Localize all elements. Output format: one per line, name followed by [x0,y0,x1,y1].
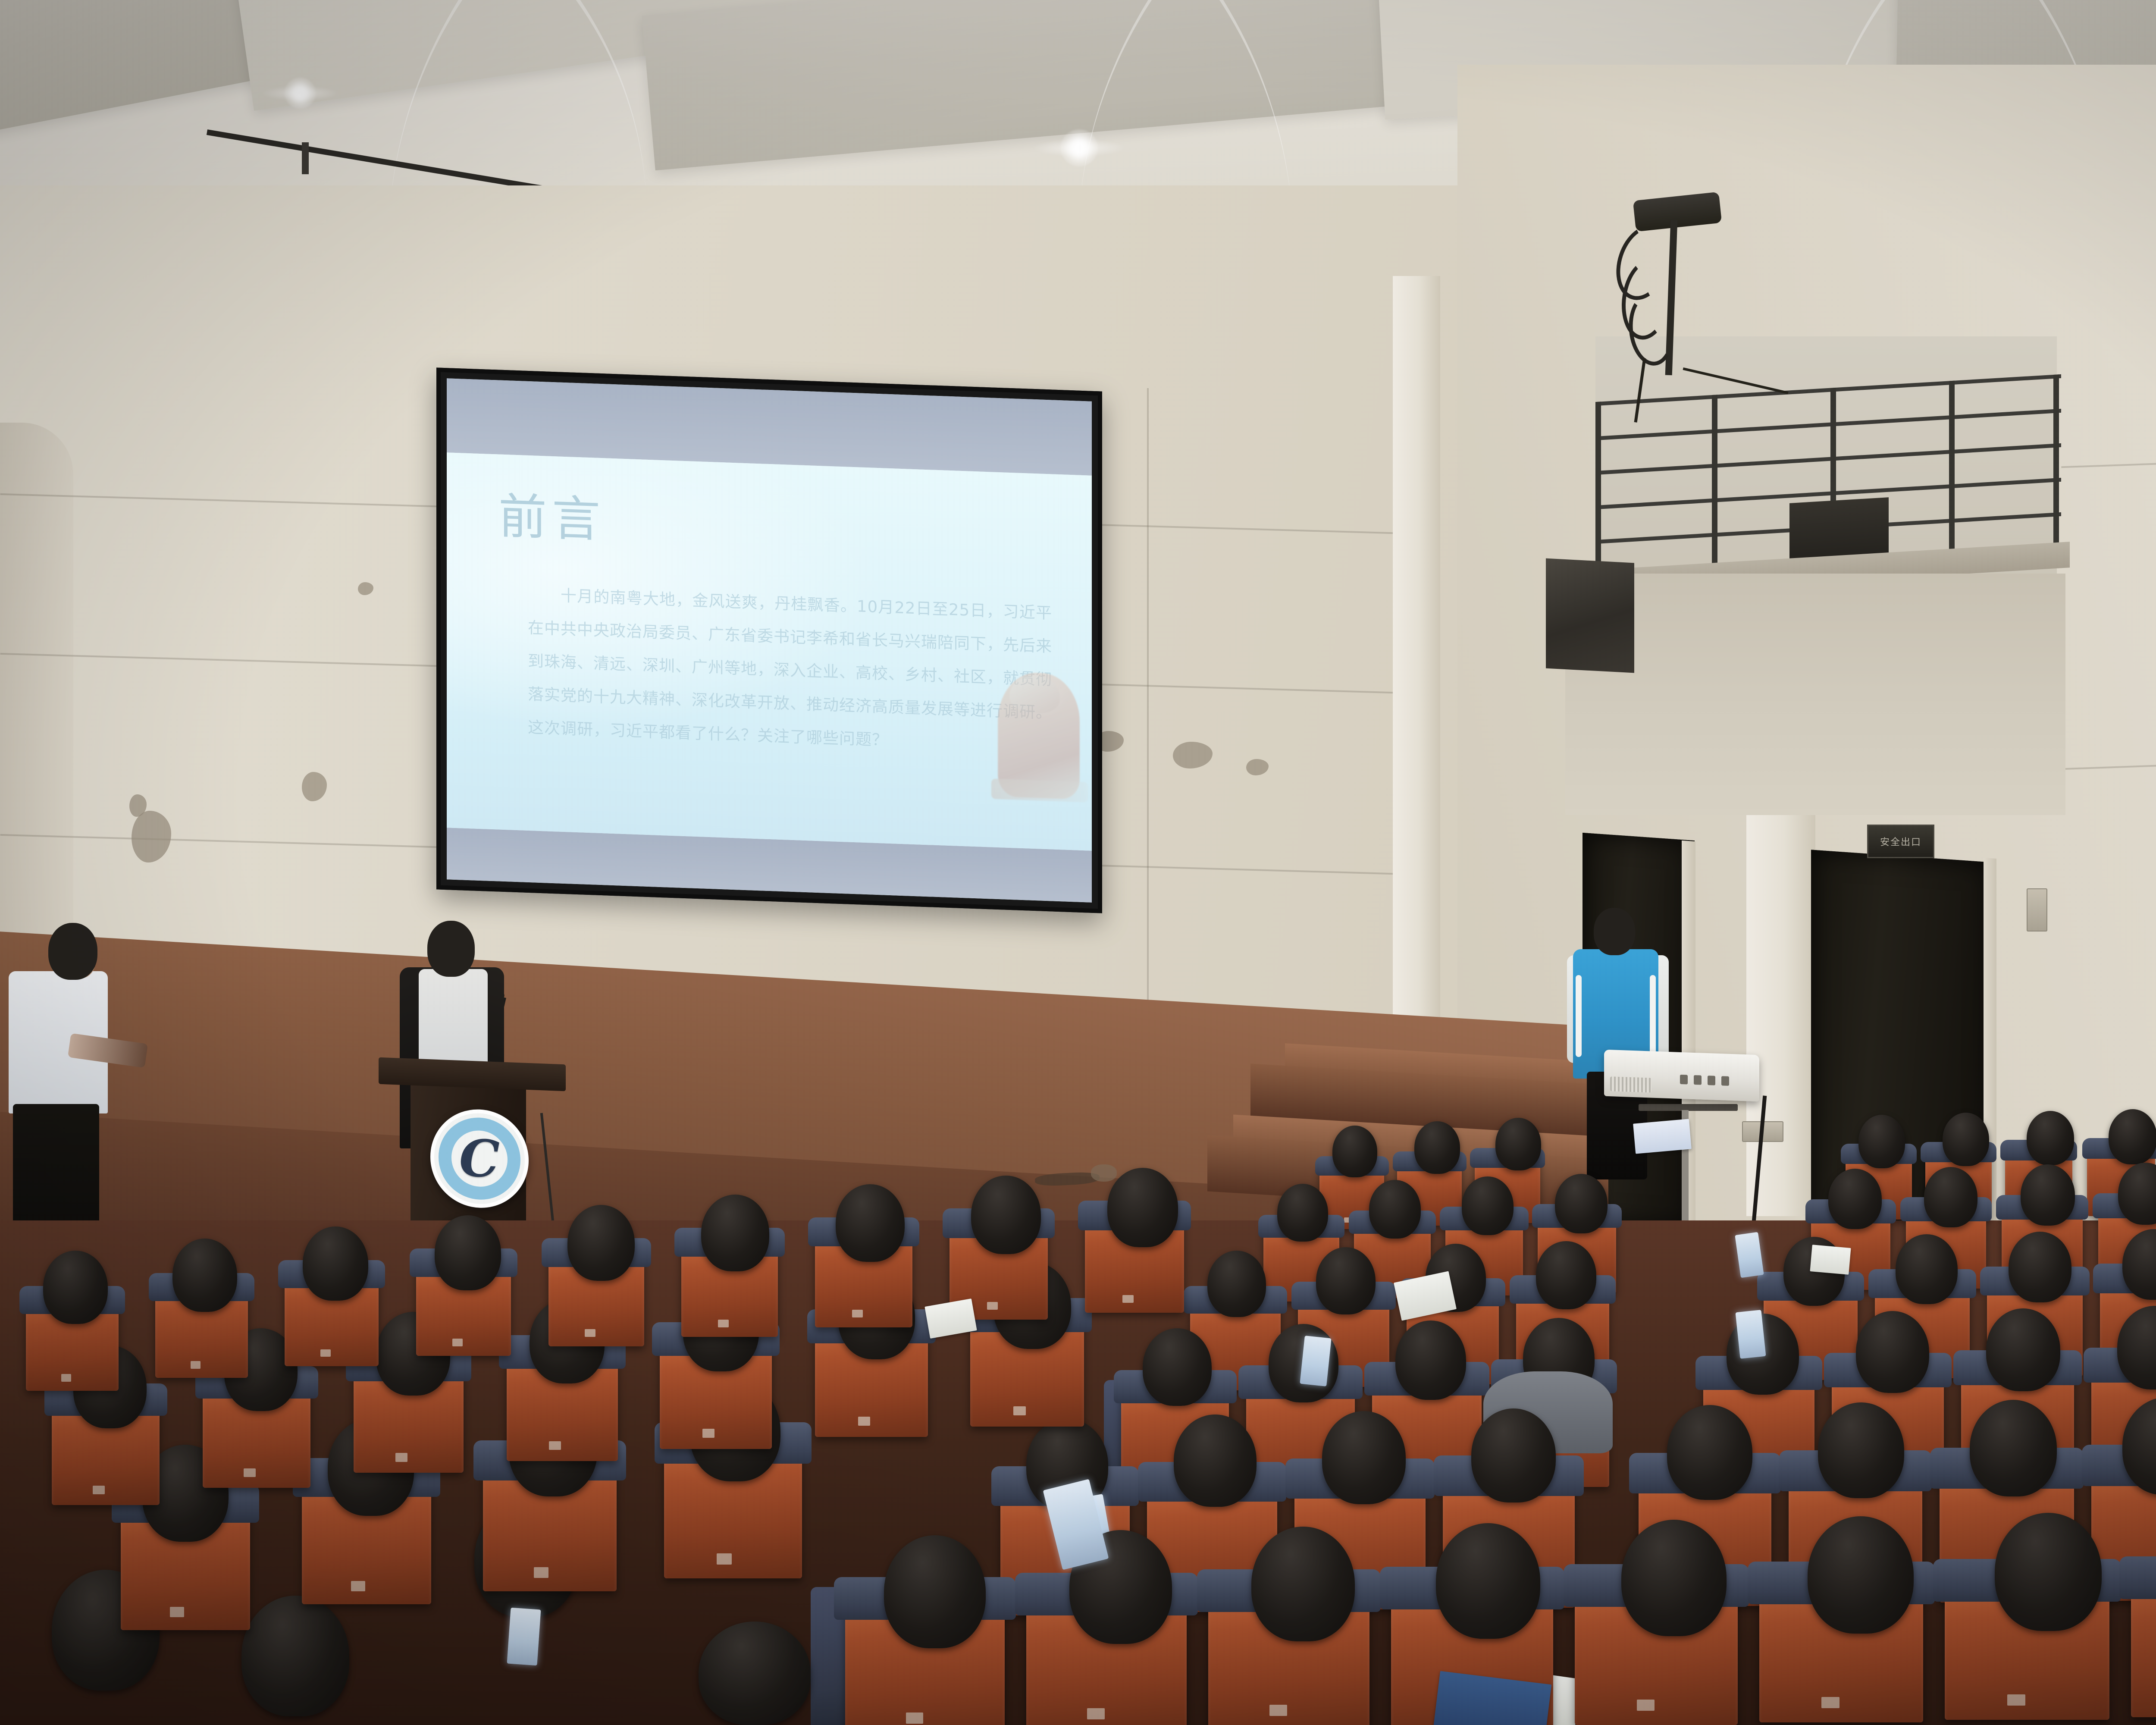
stage-floor-debris [1091,1164,1117,1182]
audience-head [1986,1308,2060,1391]
projector[interactable] [1604,1050,1759,1116]
speaker-head [427,921,475,977]
railing-post [2053,374,2059,556]
audience-head [1332,1126,1377,1177]
slide-body-text: 十月的南粤大地，金风送爽，丹桂飘香。10月22日至25日，习近平在中共中央政治局… [528,578,1052,763]
projector-port [1721,1076,1729,1086]
slide-title: 前言 [498,492,605,545]
audience-head [1436,1523,1540,1639]
smartphone[interactable] [507,1608,541,1666]
presentation-slide: 前言 十月的南粤大地，金风送爽，丹桂飘香。10月22日至25日，习近平在中共中央… [447,452,1092,851]
audience-head [1896,1234,1958,1304]
audience-head [1495,1118,1541,1170]
audience-head [701,1195,769,1271]
audience-head [884,1535,986,1648]
ceiling-downlight-1 [1061,129,1098,166]
audience-head [435,1215,501,1290]
jacket-stripe [1650,975,1656,1057]
auditorium-photo: 前言 十月的南粤大地，金风送爽，丹桂飘香。10月22日至25日，习近平在中共中央… [0,0,2156,1725]
audience-head [1536,1241,1596,1309]
audience-head [1143,1328,1212,1406]
staff-member-stage-left [0,923,134,1268]
audience-head [1174,1414,1257,1507]
audience-head [2009,1232,2071,1302]
audience-head [2027,1111,2074,1165]
audience-head [1808,1516,1914,1634]
audience-head [1251,1527,1355,1641]
audience-head [1107,1168,1178,1247]
audience-head [172,1239,237,1312]
audience-head [1667,1405,1752,1500]
paper-on-cart [1633,1119,1692,1154]
railing-post [1712,395,1717,576]
audience-head [836,1184,905,1262]
projector-port [1680,1075,1688,1085]
audience-head [1369,1180,1421,1239]
audience-head [1395,1320,1466,1400]
under-balcony-wall [1565,574,2065,815]
audience-head [303,1226,368,1301]
railing-bar [1595,443,2061,475]
audience-head [1207,1251,1266,1317]
projector-port [1708,1076,1715,1085]
audience-head [567,1205,635,1281]
stone-lion-icon [998,671,1080,800]
audience-head [1970,1400,2057,1496]
ceiling-conduit-bracket [302,142,309,174]
emblem-letter: C [459,1132,500,1185]
audience-head [1414,1121,1460,1174]
ceiling-downlight-6 [285,78,316,109]
wall-pilaster-left [1393,276,1440,1138]
audience-head [1995,1513,2102,1631]
railing-bar [1595,409,2061,440]
audience-head [1462,1176,1514,1235]
railing-post [1949,381,1955,562]
smartphone[interactable] [1736,1310,1766,1359]
exit-sign: 安全出口 [1867,825,1934,858]
audience-head [699,1621,811,1725]
wall-power-outlet[interactable] [2027,888,2047,931]
audience-head [1828,1169,1882,1229]
staff-head [48,923,97,980]
seat[interactable] [2131,1575,2156,1717]
audience-head [43,1251,108,1324]
audience-head [241,1596,349,1716]
smartphone[interactable] [1300,1336,1331,1386]
audience-head [1818,1402,1904,1498]
audience-head [1621,1520,1727,1636]
wall-mounted-speaker [1546,558,1634,673]
audience-head [1943,1113,1989,1166]
audience-head [1277,1184,1328,1242]
audience-head [971,1176,1041,1254]
projection-screen[interactable]: 前言 十月的南粤大地，金风送爽，丹桂飘香。10月22日至25日，习近平在中共中央… [436,367,1102,913]
audience-head [2109,1109,2156,1164]
audience-head [1924,1167,1977,1227]
projector-body [1604,1050,1759,1102]
jacket-stripe [1576,975,1582,1057]
audience-head [1555,1174,1608,1233]
wall-seam-vertical [1147,388,1149,1057]
wall-pilaster-mid [1746,759,1815,1216]
audience-head [2021,1164,2075,1226]
paper-sheet [1810,1245,1851,1275]
audience-head [1858,1115,1905,1168]
usher-head [1594,908,1635,955]
projector-port [1694,1075,1702,1085]
audience-head [1471,1408,1556,1502]
projector-cart[interactable] [1639,1104,1738,1229]
projector-vent-icon [1610,1076,1651,1092]
audience-head [1322,1411,1406,1504]
projection-screen-surface: 前言 十月的南粤大地，金风送爽，丹桂飘香。10月22日至25日，习近平在中共中央… [447,378,1092,903]
railing-post [1595,401,1601,583]
audience-head [1856,1311,1929,1393]
audience-head [1316,1247,1376,1314]
